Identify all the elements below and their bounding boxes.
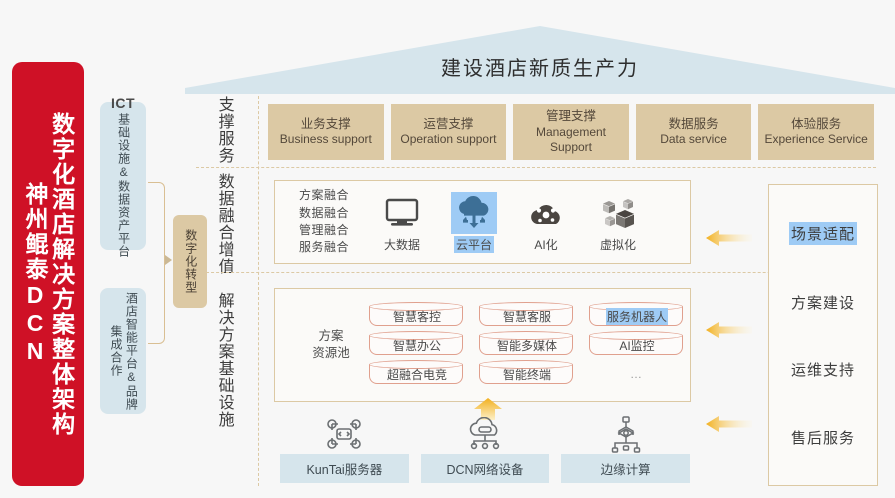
sidebar-title-text: 数字化酒店解决方案整体架构 神州鲲泰DCN [21, 78, 74, 470]
cloud-sync-icon [451, 192, 497, 234]
support-service-en: Management Support [516, 125, 626, 155]
data-label-value: 数据融合增值 [214, 173, 233, 275]
row-label-solution-text: 解决方案基础设施 [214, 323, 233, 397]
support-service-box-1[interactable]: 业务支撑Business support [268, 104, 384, 160]
support-service-cn: 数据服务 [669, 117, 719, 133]
infrastructure-item-2[interactable]: DCN网络设备 [421, 414, 550, 486]
resource-pool-item-4[interactable]: 智慧办公 [369, 333, 465, 357]
hotel-platform-box[interactable]: 酒店智能平台&品牌集成合作 [100, 288, 146, 414]
fusion-item-label: AI化 [534, 236, 557, 253]
ict-platform-box[interactable]: ICT 基础设施&数据资产平台 [100, 102, 146, 250]
infrastructure-item-label: DCN网络设备 [421, 454, 550, 483]
edge-node-icon [608, 414, 644, 454]
infrastructure-item-label: 边缘计算 [561, 454, 690, 483]
resource-pool-item-label: … [630, 367, 644, 381]
cubes-icon [601, 192, 635, 234]
ai-cloud-icon [527, 192, 565, 234]
bracket-connector [148, 182, 165, 344]
infrastructure-item-3[interactable]: 边缘计算 [561, 414, 690, 486]
resource-pool-item-2[interactable]: 智慧客服 [479, 304, 575, 328]
pool-label-line1: 方案 [305, 328, 357, 345]
monitor-icon [385, 192, 419, 234]
fusion-text-line-4: 服务融合 [299, 239, 349, 256]
solution-label-value: 解决方案基础设施 [214, 292, 233, 428]
service-stage-item-3[interactable]: 运维支持 [791, 359, 855, 380]
fusion-text-line-2: 数据融合 [299, 205, 349, 222]
fusion-item-label: 虚拟化 [600, 236, 636, 253]
fusion-item-3[interactable]: AI化 [515, 192, 577, 253]
resource-pool-item-label: 智能多媒体 [497, 337, 557, 354]
resource-pool-item-3[interactable]: 服务机器人 [589, 304, 685, 328]
resource-pool-label: 方案 资源池 [305, 328, 357, 362]
resource-pool-grid: 智慧客控智慧客服服务机器人智慧办公智能多媒体AI监控超融合电竞智能终端… [369, 304, 685, 386]
cloud-network-icon [464, 414, 506, 454]
row-label-solution-infra: 解决方案基础设施 [196, 300, 252, 420]
fusion-item-label: 云平台 [454, 236, 494, 253]
resource-pool-item-7[interactable]: 超融合电竞 [369, 362, 465, 386]
sidebar-title-line2: 神州鲲泰DCN [21, 112, 48, 437]
left-arrow-icon-3 [706, 414, 752, 434]
support-service-cn: 运营支撑 [423, 117, 473, 133]
resource-pool-item-label: 智慧客控 [393, 308, 441, 325]
support-service-box-3[interactable]: 管理支撑Management Support [513, 104, 629, 160]
service-stage-item-2[interactable]: 方案建设 [791, 292, 855, 313]
support-service-en: Business support [280, 132, 372, 147]
support-service-cn: 业务支撑 [301, 117, 351, 133]
support-service-en: Operation support [400, 132, 496, 147]
support-service-cn: 体验服务 [791, 117, 841, 133]
resource-pool-item-1[interactable]: 智慧客控 [369, 304, 465, 328]
left-arrow-icon-2 [706, 320, 752, 340]
resource-pool-item-label: 智慧客服 [503, 308, 551, 325]
support-service-box-4[interactable]: 数据服务Data service [636, 104, 752, 160]
resource-pool-item-label: 智能终端 [503, 366, 551, 383]
fusion-text-line-1: 方案融合 [299, 187, 349, 204]
support-service-en: Experience Service [764, 132, 867, 147]
service-stage-item-1[interactable]: 场景适配 [789, 222, 857, 245]
row-label-data-fusion: 数据融合增值 [196, 186, 252, 262]
sidebar-title-banner: 数字化酒店解决方案整体架构 神州鲲泰DCN [12, 62, 84, 486]
pool-label-line2: 资源池 [305, 345, 357, 362]
server-mesh-icon [324, 414, 364, 454]
fusion-icon-list: 大数据云平台AI化虚拟化 [371, 192, 649, 253]
sidebar-title-line1: 数字化酒店解决方案整体架构 [48, 112, 75, 437]
support-service-row: 业务支撑Business support运营支撑Operation suppor… [268, 104, 874, 160]
ict-abbr-label: ICT [111, 95, 135, 111]
infrastructure-item-1[interactable]: KunTai服务器 [280, 414, 409, 486]
resource-pool-item-label: AI监控 [619, 337, 654, 354]
row-label-support-service: 支撑服务 [196, 100, 252, 160]
support-service-box-2[interactable]: 运营支撑Operation support [391, 104, 507, 160]
ict-box-label: 基础设施&数据资产平台 [115, 113, 130, 258]
resource-pool-item-6[interactable]: AI监控 [589, 333, 685, 357]
service-stage-item-4[interactable]: 售后服务 [791, 427, 855, 448]
fusion-text-line-3: 管理融合 [299, 222, 349, 239]
resource-pool-item-label: 智慧办公 [393, 337, 441, 354]
infrastructure-item-label: KunTai服务器 [280, 454, 409, 483]
fusion-item-1[interactable]: 大数据 [371, 192, 433, 253]
resource-pool-item-5[interactable]: 智能多媒体 [479, 333, 575, 357]
resource-pool-panel: 方案 资源池 智慧客控智慧客服服务机器人智慧办公智能多媒体AI监控超融合电竞智能… [274, 288, 691, 402]
support-service-en: Data service [660, 132, 727, 147]
support-service-cn: 管理支撑 [546, 109, 596, 125]
support-label-value: 支撑服务 [214, 96, 233, 164]
resource-pool-item-label: 超融合电竞 [387, 366, 447, 383]
resource-pool-item-8[interactable]: 智能终端 [479, 362, 575, 386]
resource-pool-item-9: … [589, 362, 685, 386]
fusion-item-4[interactable]: 虚拟化 [587, 192, 649, 253]
roof-title: 建设酒店新质生产力 [185, 26, 895, 94]
architecture-diagram: 数字化酒店解决方案整体架构 神州鲲泰DCN 建设酒店新质生产力 ICT 基础设施… [0, 0, 895, 498]
hotel-box-label: 酒店智能平台&品牌集成合作 [108, 288, 139, 414]
vertical-dotted-divider [258, 96, 259, 486]
fusion-item-label: 大数据 [384, 236, 420, 253]
horizontal-dotted-divider-1 [196, 167, 876, 168]
row-label-support-text: 支撑服务 [214, 107, 233, 153]
infrastructure-row: KunTai服务器DCN网络设备边缘计算 [280, 414, 690, 486]
bracket-arrow-icon [165, 255, 172, 265]
support-service-box-5[interactable]: 体验服务Experience Service [758, 104, 874, 160]
fusion-text-list: 方案融合数据融合管理融合服务融合 [299, 187, 349, 257]
service-stage-panel: 场景适配方案建设运维支持售后服务 [768, 184, 878, 486]
left-arrow-icon-1 [706, 228, 752, 248]
roof-banner: 建设酒店新质生产力 [185, 26, 895, 94]
fusion-item-2[interactable]: 云平台 [443, 192, 505, 253]
row-label-data-text: 数据融合增值 [214, 195, 233, 253]
data-fusion-panel: 方案融合数据融合管理融合服务融合 大数据云平台AI化虚拟化 [274, 180, 691, 264]
resource-pool-item-label: 服务机器人 [606, 308, 668, 325]
